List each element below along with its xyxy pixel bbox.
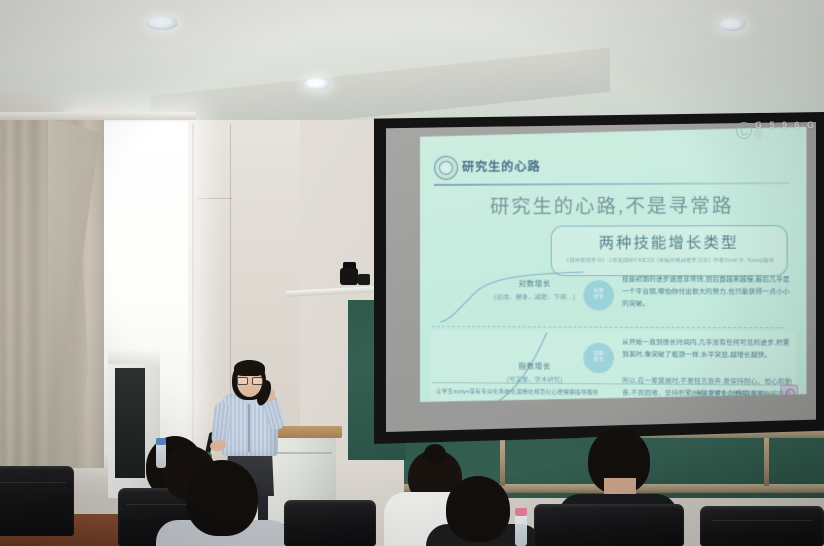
chalkboard-divider	[764, 438, 769, 486]
downlight-icon	[146, 16, 178, 30]
curtain-rail	[0, 112, 196, 120]
audience-head-bun	[424, 444, 446, 464]
projector-watermark-text: G 5 9 6 G X	[755, 120, 824, 140]
audience-chair	[0, 466, 74, 536]
air-conditioner-top	[108, 348, 160, 364]
wall-seam	[192, 124, 194, 454]
wall-seam	[198, 198, 232, 199]
projector-watermark: G 5 9 6 G X	[736, 120, 824, 140]
projected-slide: 研究生的心路 研究生的心路,不是寻常路 两种技能增长类型 《如何高效学习》-1年…	[420, 127, 806, 406]
water-bottle	[515, 512, 527, 546]
water-bottle	[156, 442, 166, 468]
chair-seam	[0, 482, 66, 483]
skill-box-title: 两种技能增长类型	[552, 231, 787, 253]
growth-sub-logarithmic: (运动、健身、减肥、下棋…)	[476, 292, 593, 301]
audience-chair	[700, 506, 824, 546]
projector-brand-logo-icon	[736, 122, 752, 139]
university-seal-icon	[434, 156, 458, 180]
audience-head	[186, 460, 258, 536]
slide-header-title: 研究生的心路	[462, 157, 541, 175]
slide-footer-left: 让学生получ享有专业化系统化温情化规范化心理健康指导服务	[436, 387, 599, 396]
growth-label-logarithmic: 对数增长	[486, 278, 583, 289]
bottle-cap	[156, 438, 166, 445]
downlight-icon	[304, 78, 330, 90]
row-divider	[432, 326, 783, 328]
chalkboard-divider	[500, 438, 505, 486]
wall-camera	[340, 268, 358, 285]
audience-chair	[284, 500, 376, 546]
bottle-cap	[515, 508, 527, 516]
growth-text-exponential: 从开始一直到很长时间内,几乎没有任何可见的进步,积累到某时,像突破了瓶颈一样,水…	[622, 337, 796, 362]
camera-side-module	[358, 274, 370, 285]
downlight-icon	[718, 18, 746, 31]
growth-label-exponential: 指数增长	[486, 360, 583, 372]
growth-row-logarithmic: 对数增长 (运动、健身、减肥、下棋…) 对数 增长 技能初期的进步速度非常快,到…	[430, 272, 796, 327]
skill-box-citation: 《如何高效学习》-1年完成MIT4年33门课程的挑战者学习法》作者Scott H…	[552, 257, 787, 264]
air-conditioner-vent	[115, 368, 145, 478]
audience-head	[446, 476, 510, 542]
growth-bullet-exponential: 指数 增长	[583, 343, 614, 374]
chair-seam	[712, 520, 812, 521]
projection-screen: 研究生的心路 研究生的心路,不是寻常路 两种技能增长类型 《如何高效学习》-1年…	[374, 112, 824, 444]
growth-text-logarithmic: 技能初期的进步速度非常快,到后面越来越慢,最后几乎是一个平台期,哪怕你付出很大的…	[622, 274, 796, 310]
presenter-shirt-placket	[248, 400, 250, 452]
glasses-icon	[237, 377, 262, 383]
slide-header-rule	[434, 182, 790, 185]
classroom-presentation-photo: 研究生的心路 研究生的心路,不是寻常路 两种技能增长类型 《如何高效学习》-1年…	[0, 0, 824, 546]
audience-chair	[534, 504, 684, 546]
growth-bullet-logarithmic: 对数 增长	[583, 280, 614, 310]
slide-main-title: 研究生的心路,不是寻常路	[420, 190, 806, 219]
presenter-fringe	[234, 360, 265, 376]
